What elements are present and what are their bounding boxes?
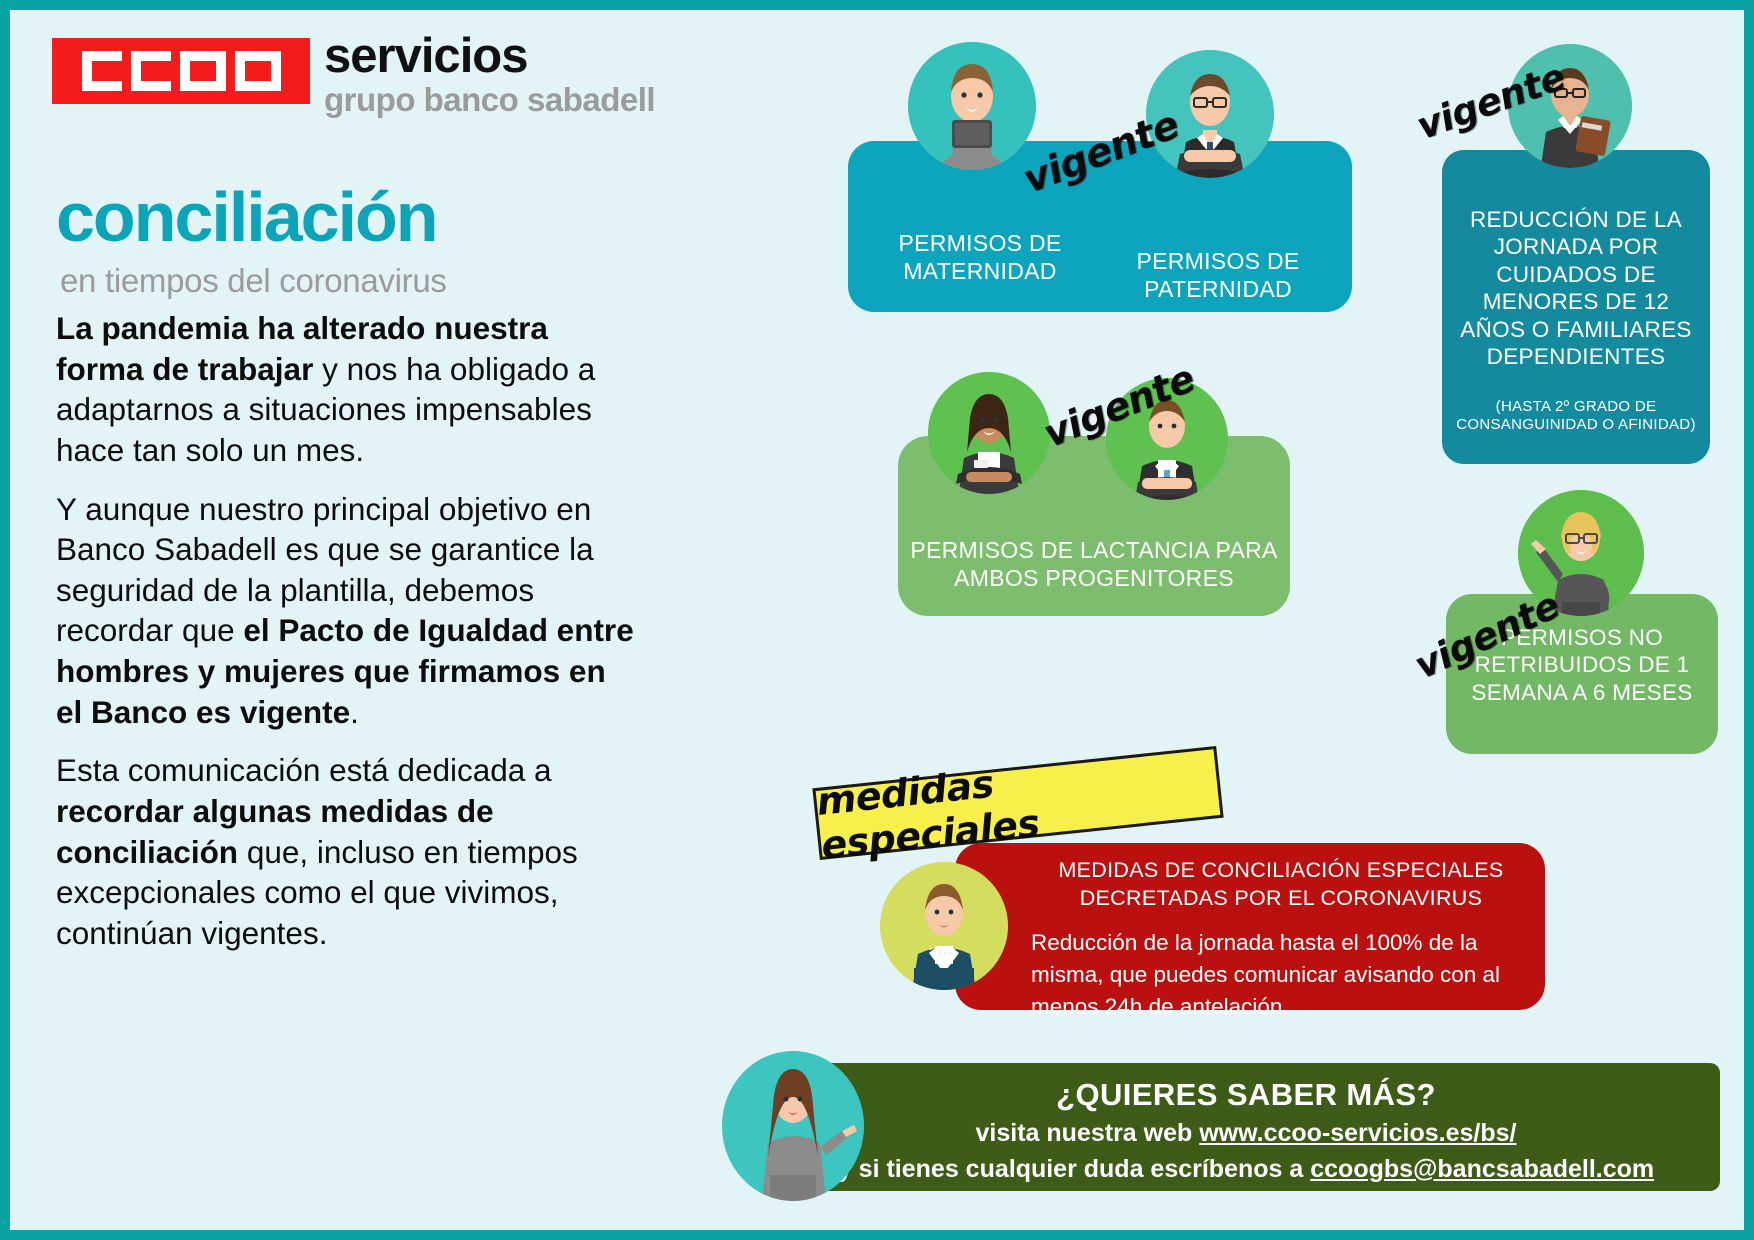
brand-sub: grupo banco sabadell [324, 83, 655, 116]
card-reduccion-jornada: REDUCCIÓN DE LA JORNADA POR CUIDADOS DE … [1442, 150, 1710, 464]
footer-email-link[interactable]: ccoogbs@bancsabadell.com [1310, 1155, 1654, 1183]
ccoo-logo [52, 38, 310, 104]
copy-paragraph-2: Y aunque nuestro principal objetivo en B… [56, 489, 636, 733]
page-title: conciliación [56, 182, 437, 252]
footer-website-line: visita nuestra web www.ccoo-servicios.es… [772, 1119, 1720, 1148]
ccoo-logo-glyph-c2 [131, 51, 171, 91]
card-medidas-especiales: MEDIDAS DE CONCILIACIÓN ESPECIALES DECRE… [955, 843, 1545, 1010]
header: servicios grupo banco sabadell [52, 32, 655, 116]
stamp-banner-text: medidas especiales [816, 749, 1221, 856]
footer-website-prefix: visita nuestra web [976, 1119, 1200, 1147]
ccoo-logo-glyph-c1 [82, 51, 122, 91]
poster-canvas: servicios grupo banco sabadell conciliac… [10, 10, 1744, 1230]
card-label-reduccion-jornada: REDUCCIÓN DE LA JORNADA POR CUIDADOS DE … [1452, 206, 1700, 371]
ccoo-logo-glyph-o1 [180, 51, 226, 91]
footer-email-line: y si tienes cualquier duda escríbenos a … [772, 1155, 1720, 1184]
ccoo-logo-glyph-o2 [235, 51, 281, 91]
card-heading-medidas-especiales: MEDIDAS DE CONCILIACIÓN ESPECIALES DECRE… [1031, 857, 1531, 912]
avatar-woman-pointing-footer-icon [722, 1051, 864, 1201]
card-label-lactancia: PERMISOS DE LACTANCIA PARA AMBOS PROGENI… [906, 536, 1282, 592]
avatar-woman-arms-crossed-icon [928, 372, 1050, 494]
footer-email-prefix: y si tienes cualquier duda escríbenos a [838, 1155, 1310, 1183]
card-label-maternidad: PERMISOS DE MATERNIDAD [872, 229, 1088, 285]
footer-banner: ¿QUIERES SABER MÁS? visita nuestra web w… [772, 1063, 1720, 1191]
card-note-reduccion-jornada: (HASTA 2º GRADO DE CONSANGUINIDAD O AFIN… [1448, 398, 1704, 434]
copy-paragraph-1: La pandemia ha alterado nuestra forma de… [56, 308, 636, 471]
brand-block: servicios grupo banco sabadell [324, 32, 655, 116]
footer-website-link[interactable]: www.ccoo-servicios.es/bs/ [1199, 1119, 1516, 1147]
brand-main: servicios [324, 32, 655, 81]
copy-paragraph-3: Esta comunicación está dedicada a record… [56, 750, 636, 953]
footer-question: ¿QUIERES SABER MÁS? [772, 1077, 1720, 1113]
copy-p2-end: . [350, 694, 359, 730]
avatar-woman-tablet-icon [908, 42, 1036, 170]
avatar-woman-pearls-icon [880, 862, 1008, 990]
card-label-paternidad: PERMISOS DE PATERNIDAD [1110, 247, 1326, 303]
intro-copy: La pandemia ha alterado nuestra forma de… [56, 308, 636, 971]
page-subtitle: en tiempos del coronavirus [60, 262, 447, 300]
card-body-medidas-especiales: Reducción de la jornada hasta el 100% de… [1031, 927, 1525, 1023]
copy-p3-start: Esta comunicación está dedicada a [56, 752, 552, 788]
